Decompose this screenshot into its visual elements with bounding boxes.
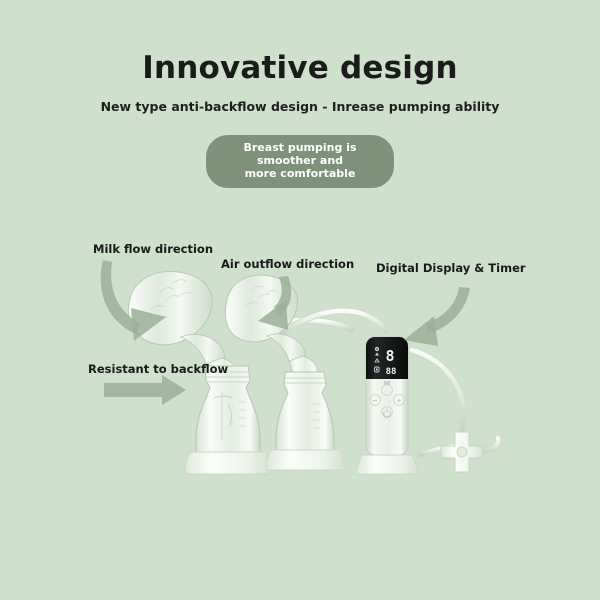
decrease-button-label: − — [372, 396, 377, 404]
motor-unit-base — [357, 455, 418, 474]
display-main-digits: 8 — [385, 347, 394, 365]
backflow-arrow — [104, 375, 186, 405]
annotation-label-backflow: Resistant to backflow — [88, 362, 228, 376]
tube-splitter — [441, 432, 483, 472]
increase-button-label: + — [396, 397, 401, 405]
product-illustration: 8 88 M − + — [0, 0, 600, 600]
display-sub-digits: 88 — [386, 367, 397, 377]
bottle-left — [185, 366, 271, 474]
motor-unit[interactable]: 8 88 M − + — [357, 337, 418, 474]
digital-display-arrow — [404, 287, 470, 346]
annotation-label-digital: Digital Display & Timer — [376, 261, 526, 275]
annotation-label-milk-flow: Milk flow direction — [93, 242, 213, 256]
infographic-canvas: Innovative design New type anti-backflow… — [0, 0, 600, 600]
mode-button-label: M — [384, 380, 390, 388]
bottle-base-right — [267, 450, 345, 470]
bottle-base-left — [185, 452, 271, 474]
bottle-right — [267, 372, 345, 470]
annotation-label-air-outflow: Air outflow direction — [221, 257, 354, 271]
